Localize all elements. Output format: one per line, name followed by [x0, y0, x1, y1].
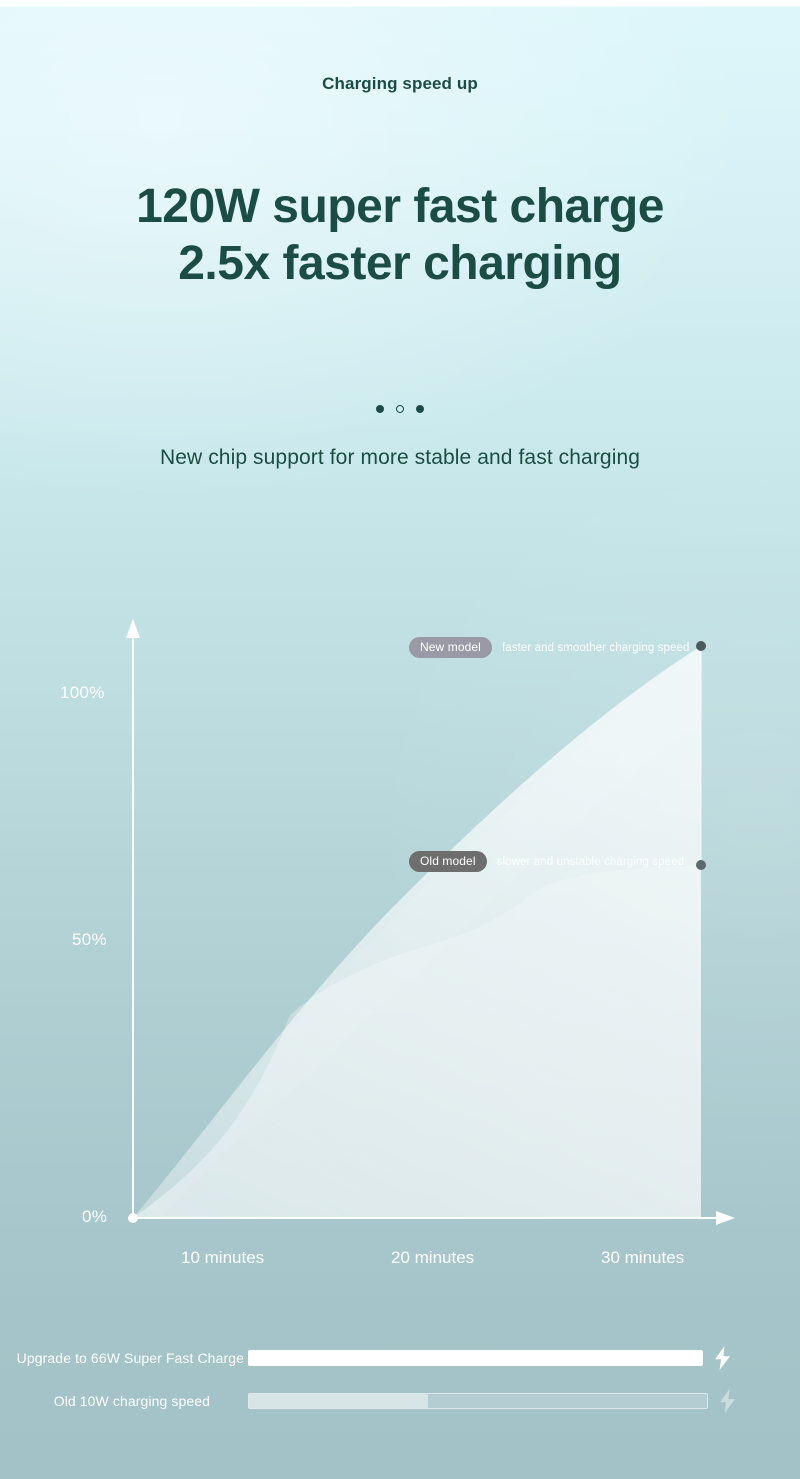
old-model-annotation: Old model slower and unstable charging s… — [409, 851, 684, 872]
x-tick-30-minutes: 30 minutes — [601, 1248, 684, 1268]
new-model-badge: New model — [409, 637, 492, 658]
progress-fill-new — [249, 1351, 702, 1365]
x-tick-10-minutes: 10 minutes — [181, 1248, 264, 1268]
eyebrow-heading: Charging speed up — [0, 74, 800, 94]
origin-marker — [128, 1213, 138, 1223]
progress-fill-old — [249, 1394, 428, 1408]
old-model-annotation-text: slower and unstable charging speed — [497, 856, 685, 868]
dot-2-icon — [396, 405, 404, 413]
charging-speed-chart — [0, 600, 800, 1300]
progress-row-new: Upgrade to 66W Super Fast Charge — [0, 1346, 800, 1370]
old-model-badge: Old model — [409, 851, 487, 872]
lightning-bolt-icon — [719, 1389, 736, 1413]
dot-divider — [0, 405, 800, 413]
old-model-endpoint-marker — [696, 860, 706, 870]
x-axis-arrow-icon — [716, 1211, 735, 1225]
y-axis-arrow-icon — [126, 619, 140, 638]
x-tick-20-minutes: 20 minutes — [391, 1248, 474, 1268]
progress-label-new: Upgrade to 66W Super Fast Charge — [0, 1350, 248, 1366]
lightning-bolt-icon — [714, 1346, 731, 1370]
subtitle-text: New chip support for more stable and fas… — [0, 446, 800, 470]
progress-row-old: Old 10W charging speed — [0, 1389, 800, 1413]
progress-track-new — [248, 1350, 703, 1366]
progress-label-old: Old 10W charging speed — [0, 1393, 248, 1409]
dot-3-icon — [416, 405, 424, 413]
promo-page: Charging speed up 120W super fast charge… — [0, 0, 800, 1479]
y-tick-100: 100% — [60, 683, 105, 703]
page-title: 120W super fast charge 2.5x faster charg… — [0, 178, 800, 292]
new-model-annotation: New model faster and smoother charging s… — [409, 637, 689, 658]
new-model-endpoint-marker — [696, 641, 706, 651]
new-model-annotation-text: faster and smoother charging speed — [502, 642, 690, 654]
y-tick-0: 0% — [82, 1207, 107, 1227]
y-tick-50: 50% — [72, 930, 107, 950]
dot-1-icon — [376, 405, 384, 413]
progress-track-old — [248, 1393, 708, 1409]
